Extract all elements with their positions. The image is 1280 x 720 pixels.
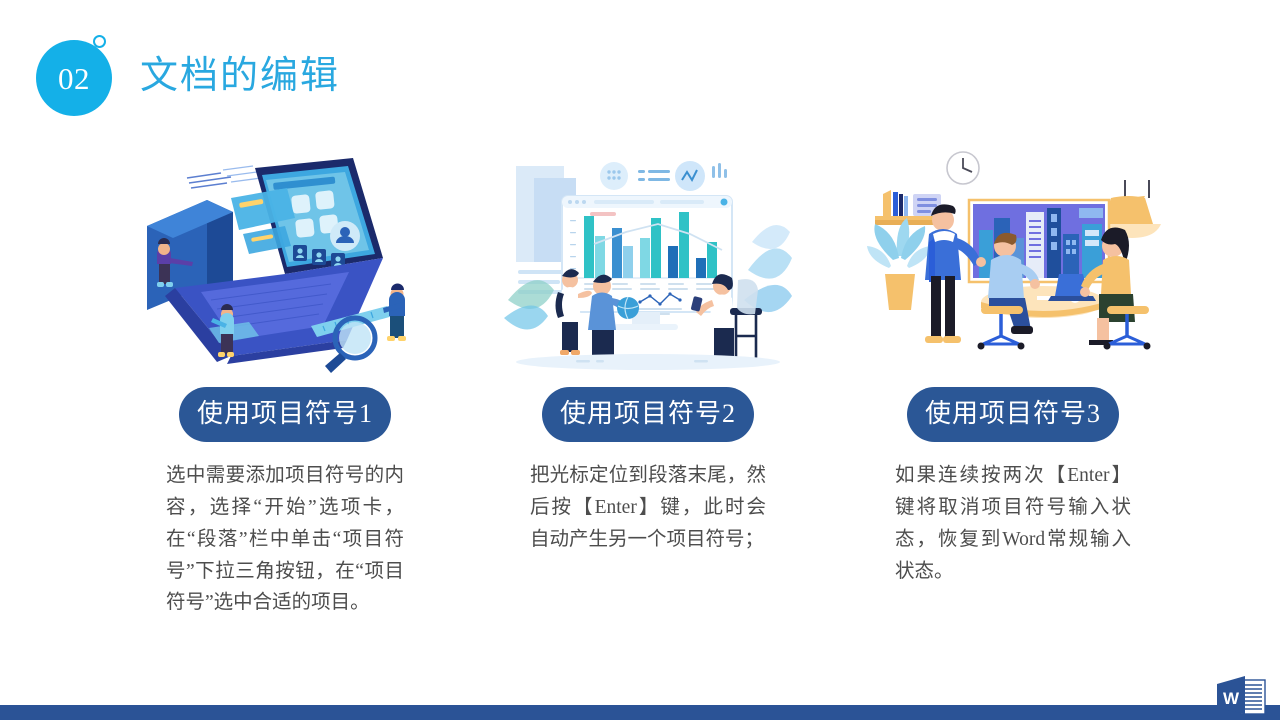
pill-button-1[interactable]: 使用项目符号1: [179, 387, 391, 442]
word-logo-letter: W: [1223, 689, 1240, 708]
section-number-label: 02: [58, 63, 90, 94]
content-column-3: 使用项目符号3 如果连续按两次【Enter】键将取消项目符号输入状态，恢复到Wo…: [833, 150, 1193, 587]
page-title: 文档的编辑: [140, 44, 340, 99]
content-column-1: 使用项目符号1 选中需要添加项目符号的内容，选择“开始”选项卡，在“段落”栏中单…: [105, 150, 465, 619]
section-number-badge: 02: [36, 30, 128, 122]
content-column-2: 使用项目符号2 把光标定位到段落末尾，然后按【Enter】键，此时会自动产生另一…: [468, 150, 828, 556]
slide-header: 02 文档的编辑: [0, 0, 1280, 130]
office-meeting-presentation-illustration: [863, 150, 1163, 375]
column-body-2: 把光标定位到段落末尾，然后按【Enter】键，此时会自动产生另一个项目符号；: [530, 460, 766, 555]
word-logo: W: [1211, 676, 1267, 716]
column-body-1: 选中需要添加项目符号的内容，选择“开始”选项卡，在“段落”栏中单击“项目符号”下…: [166, 460, 404, 619]
pill-button-3[interactable]: 使用项目符号3: [907, 387, 1119, 442]
badge-accent-dot-icon: [93, 35, 106, 48]
footer-bar: [0, 705, 1280, 720]
pill-button-2[interactable]: 使用项目符号2: [542, 387, 754, 442]
content-columns: 使用项目符号1 选中需要添加项目符号的内容，选择“开始”选项卡，在“段落”栏中单…: [0, 150, 1280, 690]
badge-circle: 02: [36, 40, 112, 116]
team-data-dashboard-illustration: [498, 150, 798, 375]
column-body-3: 如果连续按两次【Enter】键将取消项目符号输入状态，恢复到Word常规输入状态…: [895, 460, 1131, 587]
isometric-laptop-team-illustration: [135, 150, 435, 375]
